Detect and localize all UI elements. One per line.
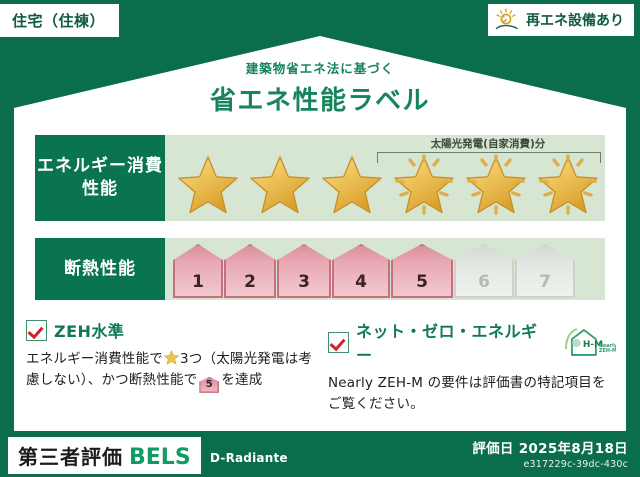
insulation-grade-step: 7 [515,244,575,298]
note-zeh-text-3: を達成 [221,372,262,388]
evaluation-date: 評価日 2025年8月18日 [472,437,628,457]
star-icon [317,151,387,217]
insulation-grade-step: 3 [277,244,331,298]
insulation-grade-step: 5 [391,244,453,298]
notes-section: ZEH水準 エネルギー消費性能で3つ（太陽光発電は考慮しない）、かつ断熱性能で5… [26,318,618,415]
energy-performance-stars-panel: 太陽光発電(自家消費)分 [165,135,605,221]
note-zeh-header: ZEH水準 [26,318,314,342]
insulation-performance-row: 断熱性能 1234567 [35,238,605,300]
insulation-label-text: 断熱性能 [64,258,136,281]
star-icon [245,151,315,217]
energy-performance-row: エネルギー消費性能 太陽光発電(自家消費)分 [35,135,605,221]
bels-badge: 第三者評価 BELS [8,437,201,474]
note-net-zero-energy: ネット・ゼロ・エネルギー H-M Nearly ZEH-M Nearly ZEH… [328,318,616,415]
bels-en-label: BELS [129,445,191,470]
renewable-energy-badge: 再エネ設備あり [488,4,634,36]
evaluation-date-value: 2025年8月18日 [519,441,628,457]
star-rays-icon [389,151,459,217]
evaluation-date-label: 評価日 [472,441,513,457]
insulation-grade-step: 1 [173,244,223,298]
pv-caption: 太陽光発電(自家消費)分 [377,136,599,151]
insulation-label-box: 断熱性能 [35,238,165,300]
star-icon [164,350,179,365]
star-rays-icon [461,151,531,217]
insulation-grade-step: 4 [332,244,390,298]
property-name: D-Radiante [210,451,288,465]
title-main: 省エネ性能ラベル [0,80,640,117]
note-nze-title: ネット・ゼロ・エネルギー [356,318,553,366]
note-nze-body: Nearly ZEH-M の要件は評価書の特記項目をご覧ください。 [328,373,616,415]
checkbox-checked-icon [26,320,47,341]
title-subtitle: 建築物省エネ法に基づく [0,58,640,77]
renewable-badge-label: 再エネ設備あり [526,10,624,30]
checkbox-checked-icon [328,332,349,353]
zeh-logo-sub-2: ZEH-M [599,348,616,354]
star-icon [173,151,243,217]
bels-jp-label: 第三者評価 [18,441,123,470]
star-rays-icon [533,151,603,217]
evaluation-id: e317229c-39dc-430c [472,459,628,470]
insulation-grade-panel: 1234567 [165,238,605,300]
insulation-grade-scale: 1234567 [173,244,575,298]
note-zeh-title: ZEH水準 [54,318,124,342]
insulation-grade-inline-icon: 5 [199,377,219,393]
note-zeh-standard: ZEH水準 エネルギー消費性能で3つ（太陽光発電は考慮しない）、かつ断熱性能で5… [26,318,314,415]
zeh-m-house-logo: H-M Nearly ZEH-M [564,327,616,357]
energy-performance-label: 住宅（住棟） 再エネ設備あり 建築物省エネ法に基づく 省エネ性能ラベル エネルギ… [0,0,640,477]
label-title: 建築物省エネ法に基づく 省エネ性能ラベル [0,58,640,117]
note-nze-header: ネット・ゼロ・エネルギー H-M Nearly ZEH-M [328,318,616,366]
energy-performance-label-text: エネルギー消費性能 [35,155,165,201]
insulation-grade-step: 6 [454,244,514,298]
footer-bar: 第三者評価 BELS D-Radiante 評価日 2025年8月18日 e31… [0,431,640,477]
sun-renewable-icon [494,8,520,32]
note-zeh-text-1: エネルギー消費性能で [26,351,163,367]
note-zeh-body: エネルギー消費性能で3つ（太陽光発電は考慮しない）、かつ断熱性能で5を達成 [26,349,314,393]
evaluation-info: 評価日 2025年8月18日 e317229c-39dc-430c [472,437,628,470]
building-type-tag: 住宅（住棟） [0,4,119,37]
insulation-grade-step: 2 [224,244,276,298]
energy-performance-label-box: エネルギー消費性能 [35,135,165,221]
star-rating [173,151,603,217]
